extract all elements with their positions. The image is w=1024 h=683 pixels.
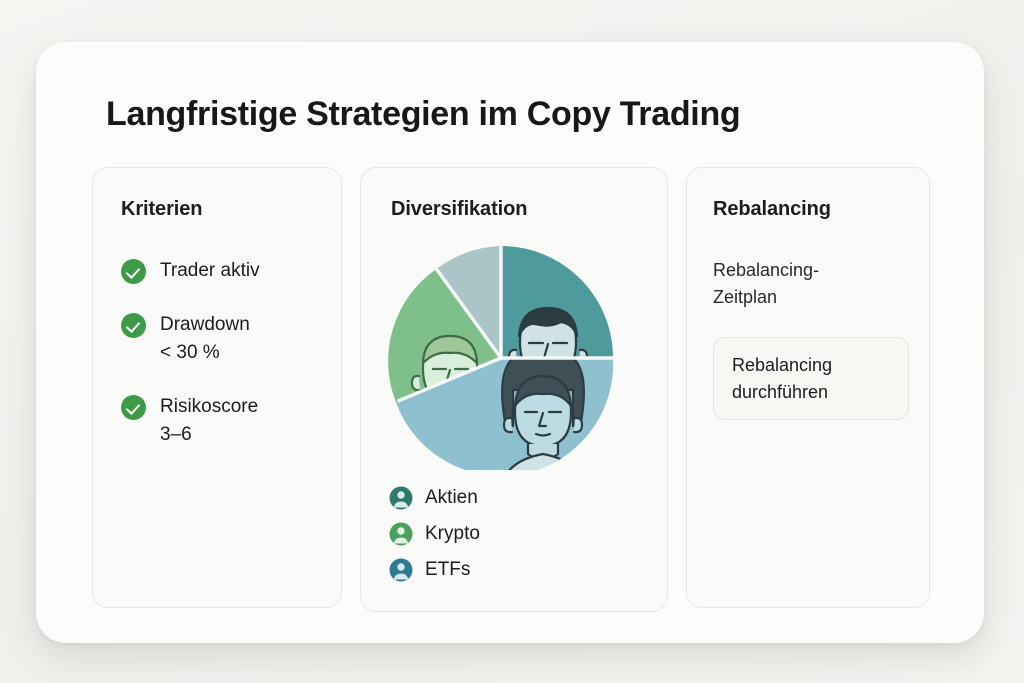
rebalancing-button-line-2: durchführen bbox=[732, 382, 828, 402]
criteria-label: Risikoscore 3–6 bbox=[160, 393, 258, 449]
legend-label: Aktien bbox=[425, 488, 478, 508]
criteria-label: Trader aktiv bbox=[160, 257, 260, 285]
page-title: Langfristige Strategien im Copy Trading bbox=[106, 95, 740, 134]
legend-label: ETFs bbox=[425, 560, 470, 580]
criteria-line-1: Risikoscore bbox=[160, 396, 258, 417]
cards-row: Kriterien Trader aktiv Drawdown < 30 % bbox=[92, 167, 930, 612]
card-rebalancing: Rebalancing Rebalancing- Zeitplan Rebala… bbox=[686, 167, 930, 608]
criteria-list: Trader aktiv Drawdown < 30 % Risik bbox=[121, 257, 321, 449]
pie-chart-svg bbox=[383, 246, 647, 470]
screenshot-canvas: Langfristige Strategien im Copy Trading … bbox=[0, 0, 1024, 683]
main-panel: Langfristige Strategien im Copy Trading … bbox=[36, 42, 984, 643]
card-title-kriterien: Kriterien bbox=[121, 198, 321, 221]
person-avatar-icon bbox=[389, 486, 413, 510]
criteria-line-2: < 30 % bbox=[160, 339, 250, 367]
card-diversifikation: Diversifikation bbox=[360, 167, 668, 612]
legend-label: Krypto bbox=[425, 524, 480, 544]
card-title-rebalancing: Rebalancing bbox=[713, 198, 907, 221]
card-title-diversifikation: Diversifikation bbox=[391, 198, 667, 221]
person-avatar-icon bbox=[389, 522, 413, 546]
card-kriterien: Kriterien Trader aktiv Drawdown < 30 % bbox=[92, 167, 342, 608]
criteria-line-1: Trader aktiv bbox=[160, 260, 260, 281]
check-circle-icon bbox=[121, 259, 146, 284]
legend-item-aktien: Aktien bbox=[389, 486, 480, 510]
rebalancing-schedule-line-1: Rebalancing- bbox=[713, 260, 819, 280]
check-circle-icon bbox=[121, 395, 146, 420]
criteria-line-2: 3–6 bbox=[160, 421, 258, 449]
pie-legend: Aktien Krypto bbox=[389, 486, 480, 582]
criteria-label: Drawdown < 30 % bbox=[160, 311, 250, 367]
rebalancing-schedule-label: Rebalancing- Zeitplan bbox=[713, 257, 907, 311]
rebalancing-schedule-line-2: Zeitplan bbox=[713, 287, 777, 307]
list-item: Trader aktiv bbox=[121, 257, 321, 285]
list-item: Risikoscore 3–6 bbox=[121, 393, 321, 449]
legend-item-krypto: Krypto bbox=[389, 522, 480, 546]
rebalancing-execute-button[interactable]: Rebalancing durchführen bbox=[713, 337, 909, 420]
pie-chart bbox=[383, 246, 647, 470]
legend-item-etfs: ETFs bbox=[389, 558, 480, 582]
person-avatar-icon bbox=[389, 558, 413, 582]
check-circle-icon bbox=[121, 313, 146, 338]
list-item: Drawdown < 30 % bbox=[121, 311, 321, 367]
rebalancing-button-line-1: Rebalancing bbox=[732, 355, 832, 375]
criteria-line-1: Drawdown bbox=[160, 314, 250, 335]
